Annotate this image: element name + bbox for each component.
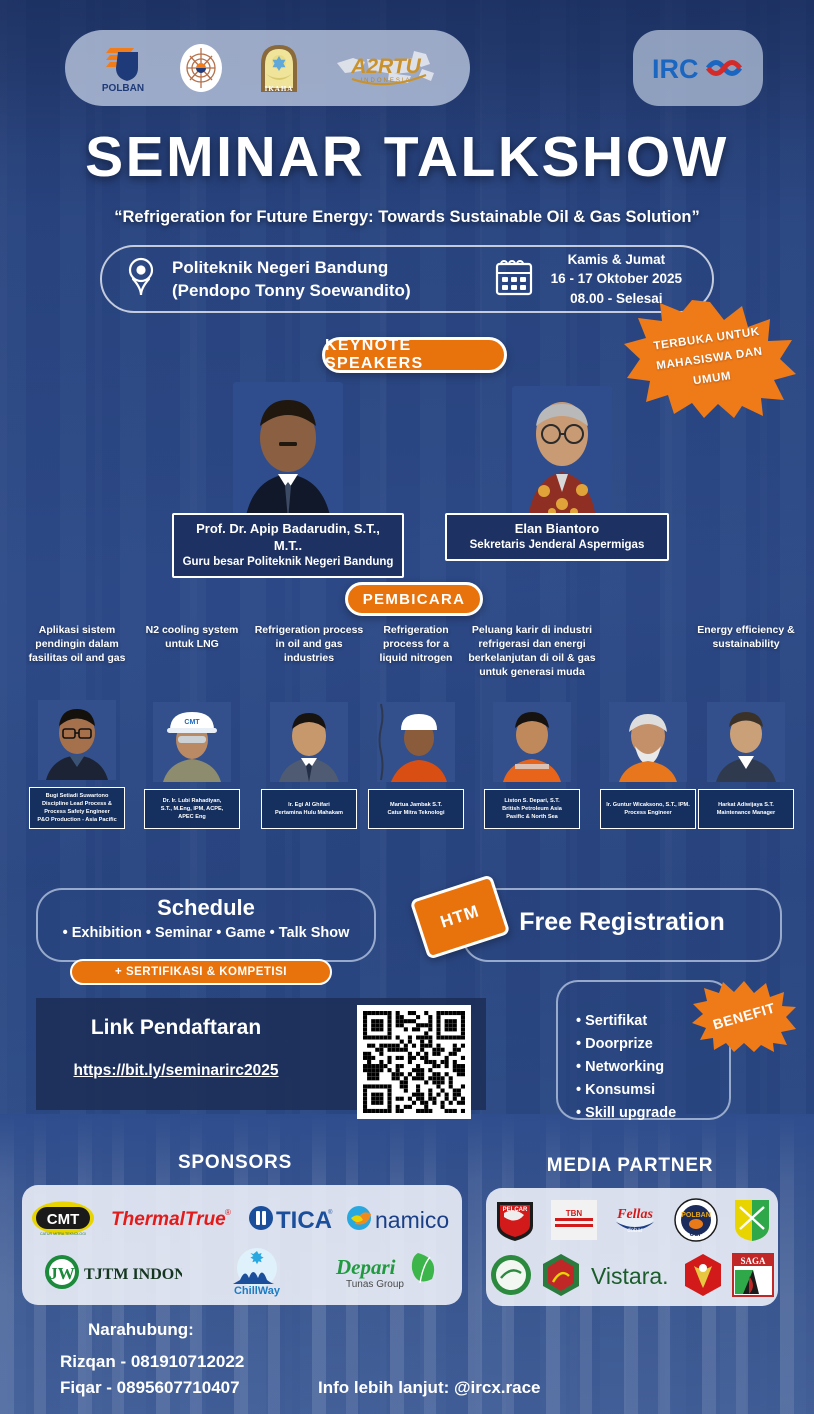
speaker-name-3: Martua Jambak S.T.	[387, 801, 444, 809]
venue-line-2: (Pendopo Tonny Soewandito)	[172, 279, 411, 302]
event-date: 16 - 17 Oktober 2025	[551, 269, 682, 289]
svg-text:CMT: CMT	[46, 1211, 79, 1228]
benefit-starburst-badge: BENEFIT	[692, 980, 796, 1052]
speaker-photo-6	[707, 702, 785, 782]
speaker-topic-4: Peluang karir di industri refrigerasi da…	[462, 624, 602, 679]
certification-pill: + SERTIFIKASI & KOMPETISI	[70, 959, 332, 985]
speaker-item-3: Martua Jambak S.T. Catur Mitra Teknologi	[370, 702, 462, 829]
speaker-card-5: Ir. Guntur Wicaksono, S.T., IPM. Process…	[600, 789, 696, 829]
speaker-role-4-line1: British Petroleum Asia	[502, 805, 562, 813]
organizer-logo-bar: POLBAN IKAHA	[65, 30, 470, 106]
schedule-title: Schedule	[36, 895, 376, 921]
contact-person-2: Fiqar - 0895607710407	[60, 1378, 240, 1398]
vistara-logo: Vistara.	[589, 1260, 675, 1290]
speaker-photo-3	[377, 702, 455, 782]
speaker-role-5-line1: Process Engineer	[606, 809, 690, 817]
keynote-name-0: Prof. Dr. Apip Badarudin, S.T., M.T..	[182, 521, 394, 555]
speaker-topic-0: Aplikasi sistem pendingin dalam fasilita…	[18, 624, 136, 679]
speaker-topic-6: Energy efficiency & sustainability	[694, 624, 798, 679]
speaker-role-1-line2: APEC Eng	[161, 813, 224, 821]
saga-logo: SAGA	[731, 1252, 775, 1298]
svg-text:IRC: IRC	[652, 54, 699, 84]
speaker-role-0-line3: P&O Production - Asia Pacific	[37, 816, 116, 824]
speaker-photo-2	[270, 702, 348, 782]
svg-text:TBN: TBN	[566, 1209, 583, 1218]
speaker-role-3-line1: Catur Mitra Teknologi	[387, 809, 444, 817]
speaker-card-3: Martua Jambak S.T. Catur Mitra Teknologi	[368, 789, 464, 829]
red-emblem-logo	[681, 1252, 725, 1298]
benefit-item-3: Konsumsi	[576, 1079, 736, 1102]
speaker-photo-1: CMT	[153, 702, 231, 782]
speaker-item-1: CMT Dr. Ir. Lubi Rahadiyan, S.T., M.Eng,…	[136, 702, 248, 829]
a2rtu-logo: A2RTU INDONESIA	[334, 43, 439, 93]
fellas-dobar-logo: Fellas dobar	[610, 1198, 660, 1242]
ikaha-emblem-logo	[177, 42, 225, 94]
benefit-item-2: Networking	[576, 1056, 736, 1079]
svg-text:CATUR MITRA TEKNOLOGI: CATUR MITRA TEKNOLOGI	[40, 1232, 86, 1236]
svg-text:POLBAN: POLBAN	[681, 1212, 711, 1219]
sponsors-row-1: CMT CATUR MITRA TEKNOLOGI ThermalTrue ® …	[22, 1185, 462, 1245]
tjtm-indonesia-logo: JW TJTM INDONESIA	[42, 1252, 182, 1292]
svg-text:Tunas Group: Tunas Group	[346, 1279, 404, 1290]
speaker-name-0: Bugi Setiadi Suwartono	[37, 792, 116, 800]
namico-logo: namico	[345, 1202, 457, 1234]
speaker-name-6: Harkat Adiwijaya S.T.	[717, 801, 775, 809]
page-title: SEMINAR TALKSHOW	[0, 124, 814, 190]
svg-text:TICA: TICA	[276, 1207, 332, 1234]
sponsors-row-2: JW TJTM INDONESIA ChillWay Depari Tunas …	[22, 1245, 462, 1299]
svg-text:PELCAR: PELCAR	[503, 1207, 528, 1213]
keynote-name-1: Elan Biantoro	[455, 521, 659, 538]
speaker-card-4: Liston S. Depari, S.T. British Petroleum…	[484, 789, 580, 829]
svg-text:SAGA: SAGA	[740, 1256, 766, 1266]
venue-line-1: Politeknik Negeri Bandung	[172, 256, 411, 279]
svg-text:TJTM INDONESIA: TJTM INDONESIA	[84, 1266, 182, 1283]
speaker-topic-2: Refrigeration process in oil and gas ind…	[248, 624, 370, 679]
speaker-role-0-line1: Discipline Lead Process &	[37, 800, 116, 808]
speaker-card-0: Bugi Setiadi Suwartono Discipline Lead P…	[29, 787, 125, 829]
thermaltrue-logo: ThermalTrue ®	[109, 1203, 237, 1233]
contact-person-1: Rizqan - 081910712022	[60, 1352, 244, 1372]
svg-text:ChillWay: ChillWay	[234, 1285, 281, 1297]
ircx-logo: IRC	[646, 46, 750, 90]
speaker-topics-row: Aplikasi sistem pendingin dalam fasilita…	[18, 624, 798, 679]
speaker-item-0: Bugi Setiadi Suwartono Discipline Lead P…	[18, 700, 136, 829]
pelcar-logo: PELCAR	[492, 1197, 538, 1243]
media-partner-row-1: PELCAR TBN Fellas dobar POLBAN USF	[486, 1188, 778, 1247]
speaker-name-4: Liston S. Depari, S.T.	[502, 797, 562, 805]
speaker-topic-5	[602, 624, 694, 679]
speaker-photo-0	[38, 700, 116, 780]
speaker-role-4-line2: Pasific & North Sea	[502, 813, 562, 821]
speaker-topic-3: Refrigeration process for a liquid nitro…	[370, 624, 462, 679]
social-media-handle: Info lebih lanjut: @ircx.race	[318, 1378, 541, 1398]
keynote-role-0: Guru besar Politeknik Negeri Bandung	[182, 555, 394, 571]
svg-text:POLBAN: POLBAN	[102, 83, 144, 94]
svg-text:dobar: dobar	[627, 1228, 642, 1234]
media-partner-panel: PELCAR TBN Fellas dobar POLBAN USF	[486, 1188, 778, 1306]
open-to-public-badge: TERBUKA UNTUK MAHASISWA DAN UMUM	[624, 300, 796, 418]
page-subtitle: “Refrigeration for Future Energy: Toward…	[0, 208, 814, 227]
speakers-row: Bugi Setiadi Suwartono Discipline Lead P…	[18, 700, 798, 829]
speaker-role-0-line2: Process Safety Engineer	[37, 808, 116, 816]
venue-text: Politeknik Negeri Bandung (Pendopo Tonny…	[172, 256, 411, 303]
chillway-holiday-logo: ChillWay	[222, 1246, 292, 1298]
sponsors-panel: CMT CATUR MITRA TEKNOLOGI ThermalTrue ® …	[22, 1185, 462, 1305]
speaker-name-2: Ir. Egi Al Ghifari	[275, 801, 343, 809]
ircx-logo-bar: IRC	[633, 30, 763, 106]
keynote-photo-0	[233, 382, 343, 520]
sponsors-heading: SPONSORS	[110, 1152, 360, 1174]
svg-text:A2RTU: A2RTU	[350, 55, 421, 78]
keynote-card-1: Elan Biantoro Sekretaris Jenderal Asperm…	[445, 513, 669, 561]
speaker-role-2-line1: Pertamina Hulu Mahakam	[275, 809, 343, 817]
speaker-item-4: Liston S. Depari, S.T. British Petroleum…	[462, 702, 602, 829]
schedule-items: • Exhibition • Seminar • Game • Talk Sho…	[36, 925, 376, 941]
svg-text:USF: USF	[689, 1231, 702, 1238]
speaker-topic-1: N2 cooling system untuk LNG	[136, 624, 248, 679]
svg-text:Depari: Depari	[335, 1255, 396, 1279]
svg-text:JW: JW	[49, 1264, 75, 1283]
speaker-card-1: Dr. Ir. Lubi Rahadiyan, S.T., M.Eng, IPM…	[144, 789, 240, 829]
registration-qr-code[interactable]	[357, 1005, 471, 1119]
speaker-name-5: Ir. Guntur Wicaksono, S.T., IPM.	[606, 801, 690, 809]
benefit-item-4: Skill upgrade	[576, 1102, 736, 1125]
contact-heading: Narahubung:	[88, 1320, 194, 1340]
svg-text:namico: namico	[375, 1207, 449, 1233]
hexagon-red-logo	[539, 1252, 583, 1298]
registration-link-title: Link Pendaftaran	[36, 1016, 316, 1040]
speaker-item-2: Ir. Egi Al Ghifari Pertamina Hulu Mahaka…	[248, 702, 370, 829]
speaker-photo-5	[609, 702, 687, 782]
svg-text:®: ®	[225, 1208, 231, 1217]
tica-logo: TICA ®	[248, 1202, 334, 1234]
depari-tunas-group-logo: Depari Tunas Group	[332, 1249, 442, 1295]
cmt-logo: CMT CATUR MITRA TEKNOLOGI	[28, 1199, 98, 1237]
ikaha-logo: IKAHA	[251, 40, 307, 96]
speaker-name-1: Dr. Ir. Lubi Rahadiyan,	[161, 797, 224, 805]
calendar-icon	[491, 254, 537, 305]
svg-text:®: ®	[328, 1209, 333, 1216]
circle-green-logo	[489, 1253, 533, 1297]
shield-green-logo	[732, 1197, 772, 1243]
polban-logo: POLBAN	[96, 42, 150, 94]
speaker-card-2: Ir. Egi Al Ghifari Pertamina Hulu Mahaka…	[261, 789, 357, 829]
speaker-item-6: Harkat Adiwijaya S.T. Maintenance Manage…	[694, 702, 798, 829]
location-pin-icon	[124, 255, 158, 304]
keynote-role-1: Sekretaris Jenderal Aspermigas	[455, 538, 659, 554]
svg-text:ThermalTrue: ThermalTrue	[111, 1209, 226, 1230]
keynote-card-0: Prof. Dr. Apip Badarudin, S.T., M.T.. Gu…	[172, 513, 404, 578]
event-poster: POLBAN IKAHA	[0, 0, 814, 1414]
svg-text:IKAHA: IKAHA	[265, 85, 294, 93]
pembicara-heading: PEMBICARA	[345, 582, 483, 616]
speaker-item-5: Ir. Guntur Wicaksono, S.T., IPM. Process…	[602, 702, 694, 829]
speaker-card-6: Harkat Adiwijaya S.T. Maintenance Manage…	[698, 789, 794, 829]
polban-usf-logo: POLBAN USF	[673, 1197, 719, 1243]
speaker-role-1-line1: S.T., M.Eng, IPM, ACPE,	[161, 805, 224, 813]
event-info-box: Politeknik Negeri Bandung (Pendopo Tonny…	[100, 245, 714, 313]
media-partner-heading: MEDIA PARTNER	[490, 1155, 770, 1177]
svg-text:CMT: CMT	[184, 719, 200, 726]
speaker-photo-4	[493, 702, 571, 782]
speaker-role-6-line1: Maintenance Manager	[717, 809, 775, 817]
keynote-speakers-heading: KEYNOTE SPEAKERS	[322, 337, 507, 373]
svg-text:Fellas: Fellas	[616, 1207, 653, 1222]
keynote-photo-1	[512, 386, 612, 518]
media-partner-row-2: Vistara. SAGA	[486, 1247, 778, 1302]
event-day: Kamis & Jumat	[551, 250, 682, 270]
registration-link-url[interactable]: https://bit.ly/seminarirc2025	[36, 1062, 316, 1080]
svg-text:Vistara.: Vistara.	[591, 1263, 669, 1289]
tbn-logo: TBN	[551, 1200, 597, 1240]
